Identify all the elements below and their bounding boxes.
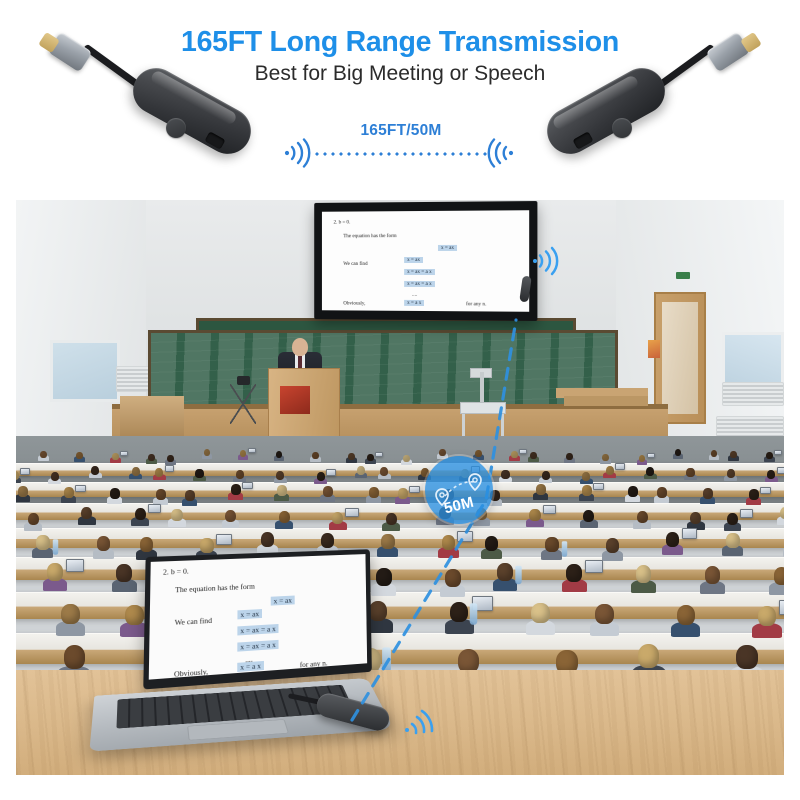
student-laptop <box>543 505 556 514</box>
audience-head <box>171 509 182 522</box>
audience-head <box>367 454 374 462</box>
audience-head <box>638 644 659 668</box>
student-laptop <box>777 467 784 474</box>
student-laptop <box>66 559 84 572</box>
audience-head <box>730 451 737 459</box>
laptop-slide-eq-top: x = ax <box>271 596 295 606</box>
desk-row <box>16 503 784 520</box>
slide-line-intro: The equation has the form <box>343 233 396 239</box>
audience-head <box>97 536 110 551</box>
audience-head <box>317 472 325 481</box>
audience-head <box>135 508 146 521</box>
connection-indicator: 165FT/50M <box>283 122 519 180</box>
audience-head <box>110 488 120 499</box>
laptop-slide-eq-1: x = ax <box>237 609 262 619</box>
chalk-writing <box>151 333 615 405</box>
audience-head <box>195 469 203 478</box>
audience-head <box>380 467 388 476</box>
receiver-body <box>125 60 259 162</box>
audience-head <box>277 485 287 496</box>
audience-head <box>726 533 739 548</box>
student-laptop <box>760 487 771 495</box>
slide-closing-pre: This sequence is <box>351 310 386 311</box>
projector-arm <box>480 372 484 406</box>
audience-head <box>595 604 613 625</box>
audience-head <box>766 452 773 460</box>
audience-head <box>323 486 333 497</box>
audience-head <box>321 533 334 548</box>
laptop-slide-eq-2: x = ax = a x <box>237 624 278 636</box>
audience-head <box>112 453 119 461</box>
audience-head <box>530 452 537 460</box>
laptop-slide-closing-link: a geometric progression. <box>235 671 308 680</box>
student-laptop <box>647 453 655 459</box>
wifi-signal-icon <box>404 708 436 738</box>
student-laptop <box>519 449 527 455</box>
audience-head <box>64 645 85 669</box>
audience-head <box>36 535 49 550</box>
water-bottle <box>515 566 521 584</box>
water-bottle <box>561 541 566 557</box>
audience-head <box>686 468 694 477</box>
slide-content: 2. b = 0. The equation has the form x = … <box>322 210 529 312</box>
promo-banner: 165FT Long Range Transmission Best for B… <box>0 0 800 200</box>
audience-head <box>780 507 784 520</box>
student-laptop <box>326 469 336 476</box>
audience-head <box>501 470 509 479</box>
audience-head <box>450 602 468 623</box>
student-laptop <box>120 451 128 457</box>
slide-eq-general: x = a x <box>404 300 424 306</box>
lecture-hall-photo: 2. b = 0. The equation has the form x = … <box>16 200 784 775</box>
audience-head <box>386 513 397 526</box>
student-laptop <box>774 450 782 456</box>
audience-head <box>381 534 394 549</box>
audience-head <box>606 466 614 475</box>
student-laptop <box>242 482 253 490</box>
audience-head <box>76 452 83 460</box>
laptop-slide-line-intro: The equation has the form <box>175 582 255 595</box>
water-bottle <box>470 603 478 625</box>
audience-head <box>51 472 59 481</box>
audience-head <box>727 513 738 526</box>
student-laptop <box>165 465 175 472</box>
audience-head <box>485 536 498 551</box>
audience-head <box>140 537 153 552</box>
slide-closing-link: a geometric progression. <box>386 311 437 312</box>
student-laptop <box>740 509 753 518</box>
audience-head <box>749 489 759 500</box>
laptop-slide-line-obviously: Obviously, <box>174 667 208 679</box>
slide-line-wecanfind: We can find <box>343 261 367 267</box>
receiver-device: Receiver (RX) <box>38 30 298 180</box>
radiator <box>716 416 784 438</box>
audience-head <box>666 532 679 547</box>
audience-head <box>636 565 652 582</box>
audience-head <box>156 489 166 500</box>
transmitter-body <box>539 60 673 162</box>
audience-head <box>47 563 63 580</box>
slide-eq-3: x = ax = a x <box>404 281 435 287</box>
student-laptop <box>248 448 256 454</box>
laptop-slide-closing-pre: This sequence is <box>182 676 235 679</box>
audience-head <box>628 486 638 497</box>
slide-eq-top: x = ax <box>438 245 457 251</box>
projector-platen <box>460 402 506 414</box>
audience-head <box>357 466 365 475</box>
wifi-signal-icon <box>532 246 562 276</box>
audience-head <box>16 471 19 480</box>
audience-head <box>279 511 290 524</box>
audience-head <box>690 512 701 525</box>
pair-button-icon <box>612 118 632 138</box>
audience-head <box>236 470 244 479</box>
wall-poster <box>648 340 660 358</box>
side-desk <box>120 396 184 438</box>
product-feature-page: 165FT Long Range Transmission Best for B… <box>0 0 800 800</box>
audience-head <box>637 511 648 524</box>
audience-head <box>582 485 592 496</box>
wifi-signal-icon <box>283 138 317 168</box>
student-laptop <box>216 534 232 545</box>
audience-head <box>40 451 47 459</box>
slide-eq-dots: .... <box>412 292 417 298</box>
audience-head <box>531 603 549 624</box>
student-laptop <box>409 486 420 494</box>
student-laptop <box>75 485 86 493</box>
audience-head <box>583 510 594 523</box>
distance-badge: 50M <box>425 456 493 524</box>
audience-head <box>276 471 284 480</box>
student-laptop <box>457 531 473 542</box>
audience-head <box>529 509 540 522</box>
laptop-slide-eq-general: x = a x <box>237 661 264 672</box>
audience-head <box>497 563 513 580</box>
pair-button-icon <box>166 118 186 138</box>
slide-line-closing: This sequence is a geometric progression… <box>351 310 437 311</box>
audience-head <box>312 452 319 460</box>
projected-slide: 2. b = 0. The equation has the form x = … <box>322 210 529 312</box>
student-laptop <box>615 463 625 470</box>
dotted-connection-line <box>313 152 489 156</box>
audience-head <box>64 487 74 498</box>
audience-head <box>261 532 274 547</box>
audience-head <box>774 567 784 584</box>
foreground-laptop: 2. b = 0. The equation has the form x = … <box>94 552 384 762</box>
student-laptop <box>779 600 784 615</box>
audience-head <box>445 569 461 586</box>
slide-heading: 2. b = 0. <box>334 219 351 225</box>
audience-head <box>185 490 195 501</box>
audience-head <box>403 455 410 463</box>
student-laptop <box>20 468 30 475</box>
audience-head <box>132 467 140 476</box>
laptop-slide-eq-3: x = ax = a x <box>237 640 278 652</box>
wifi-signal-icon <box>481 138 515 168</box>
audience-head <box>566 564 582 581</box>
audience-head <box>657 487 667 498</box>
laptop-slide-line-wecanfind: We can find <box>175 616 212 627</box>
audience-head <box>736 645 757 669</box>
transmitter-device: Transmitter (TX) <box>500 30 760 180</box>
student-laptop <box>148 504 161 513</box>
student-laptop <box>585 560 603 573</box>
exit-sign <box>676 272 690 279</box>
slide-eq-2: x = ax = a x <box>404 269 435 275</box>
audience-head <box>545 537 558 552</box>
student-laptop <box>682 528 698 539</box>
slide-line-obviously: Obviously, <box>343 301 365 307</box>
left-window <box>50 340 120 402</box>
audience-head <box>369 487 379 498</box>
audience-head <box>727 469 735 478</box>
water-bottle <box>52 539 57 555</box>
audience-head <box>398 488 408 499</box>
audience-head <box>91 466 99 475</box>
laptop-lid: 2. b = 0. The equation has the form x = … <box>143 549 372 689</box>
audience-head <box>536 484 546 495</box>
audience-head <box>332 512 343 525</box>
audience-head <box>155 468 163 477</box>
audience-head <box>606 538 619 553</box>
audience-member <box>783 546 784 557</box>
audience-head <box>81 507 92 520</box>
tripod-legs <box>230 384 256 424</box>
student-laptop <box>345 508 358 517</box>
audience-head <box>200 538 213 553</box>
laptop-slide-line-forany: for any n. <box>300 658 328 669</box>
radiator <box>722 382 784 406</box>
audience-head <box>646 467 654 476</box>
audience-head <box>442 535 455 550</box>
student-laptop <box>593 483 604 491</box>
laptop-slide-content: 2. b = 0. The equation has the form x = … <box>149 554 367 680</box>
chalkboard <box>148 330 618 408</box>
audience-head <box>703 488 713 499</box>
camera-tripod <box>230 376 256 424</box>
audience-head <box>542 471 550 480</box>
audience-head <box>677 605 695 626</box>
audience-head <box>767 470 775 479</box>
audience-head <box>28 513 39 526</box>
laptop-screen: 2. b = 0. The equation has the form x = … <box>149 554 367 680</box>
lecturer-head <box>292 338 308 356</box>
stage-step <box>564 396 648 406</box>
slide-line-forany: for any n. <box>466 301 486 307</box>
podium-poster <box>280 386 310 414</box>
audience-head <box>511 451 518 459</box>
audience-head <box>705 566 721 583</box>
audience-head <box>18 486 28 497</box>
projection-screen: 2. b = 0. The equation has the form x = … <box>314 201 537 321</box>
audience-head <box>758 606 776 627</box>
audience-head <box>582 472 590 481</box>
laptop-slide-heading: 2. b = 0. <box>163 567 189 577</box>
audience-head <box>61 604 79 625</box>
audience-head <box>231 484 241 495</box>
slide-eq-1: x = ax <box>404 257 423 263</box>
student-laptop <box>375 452 383 458</box>
audience-head <box>225 510 236 523</box>
audience-head <box>348 453 355 461</box>
